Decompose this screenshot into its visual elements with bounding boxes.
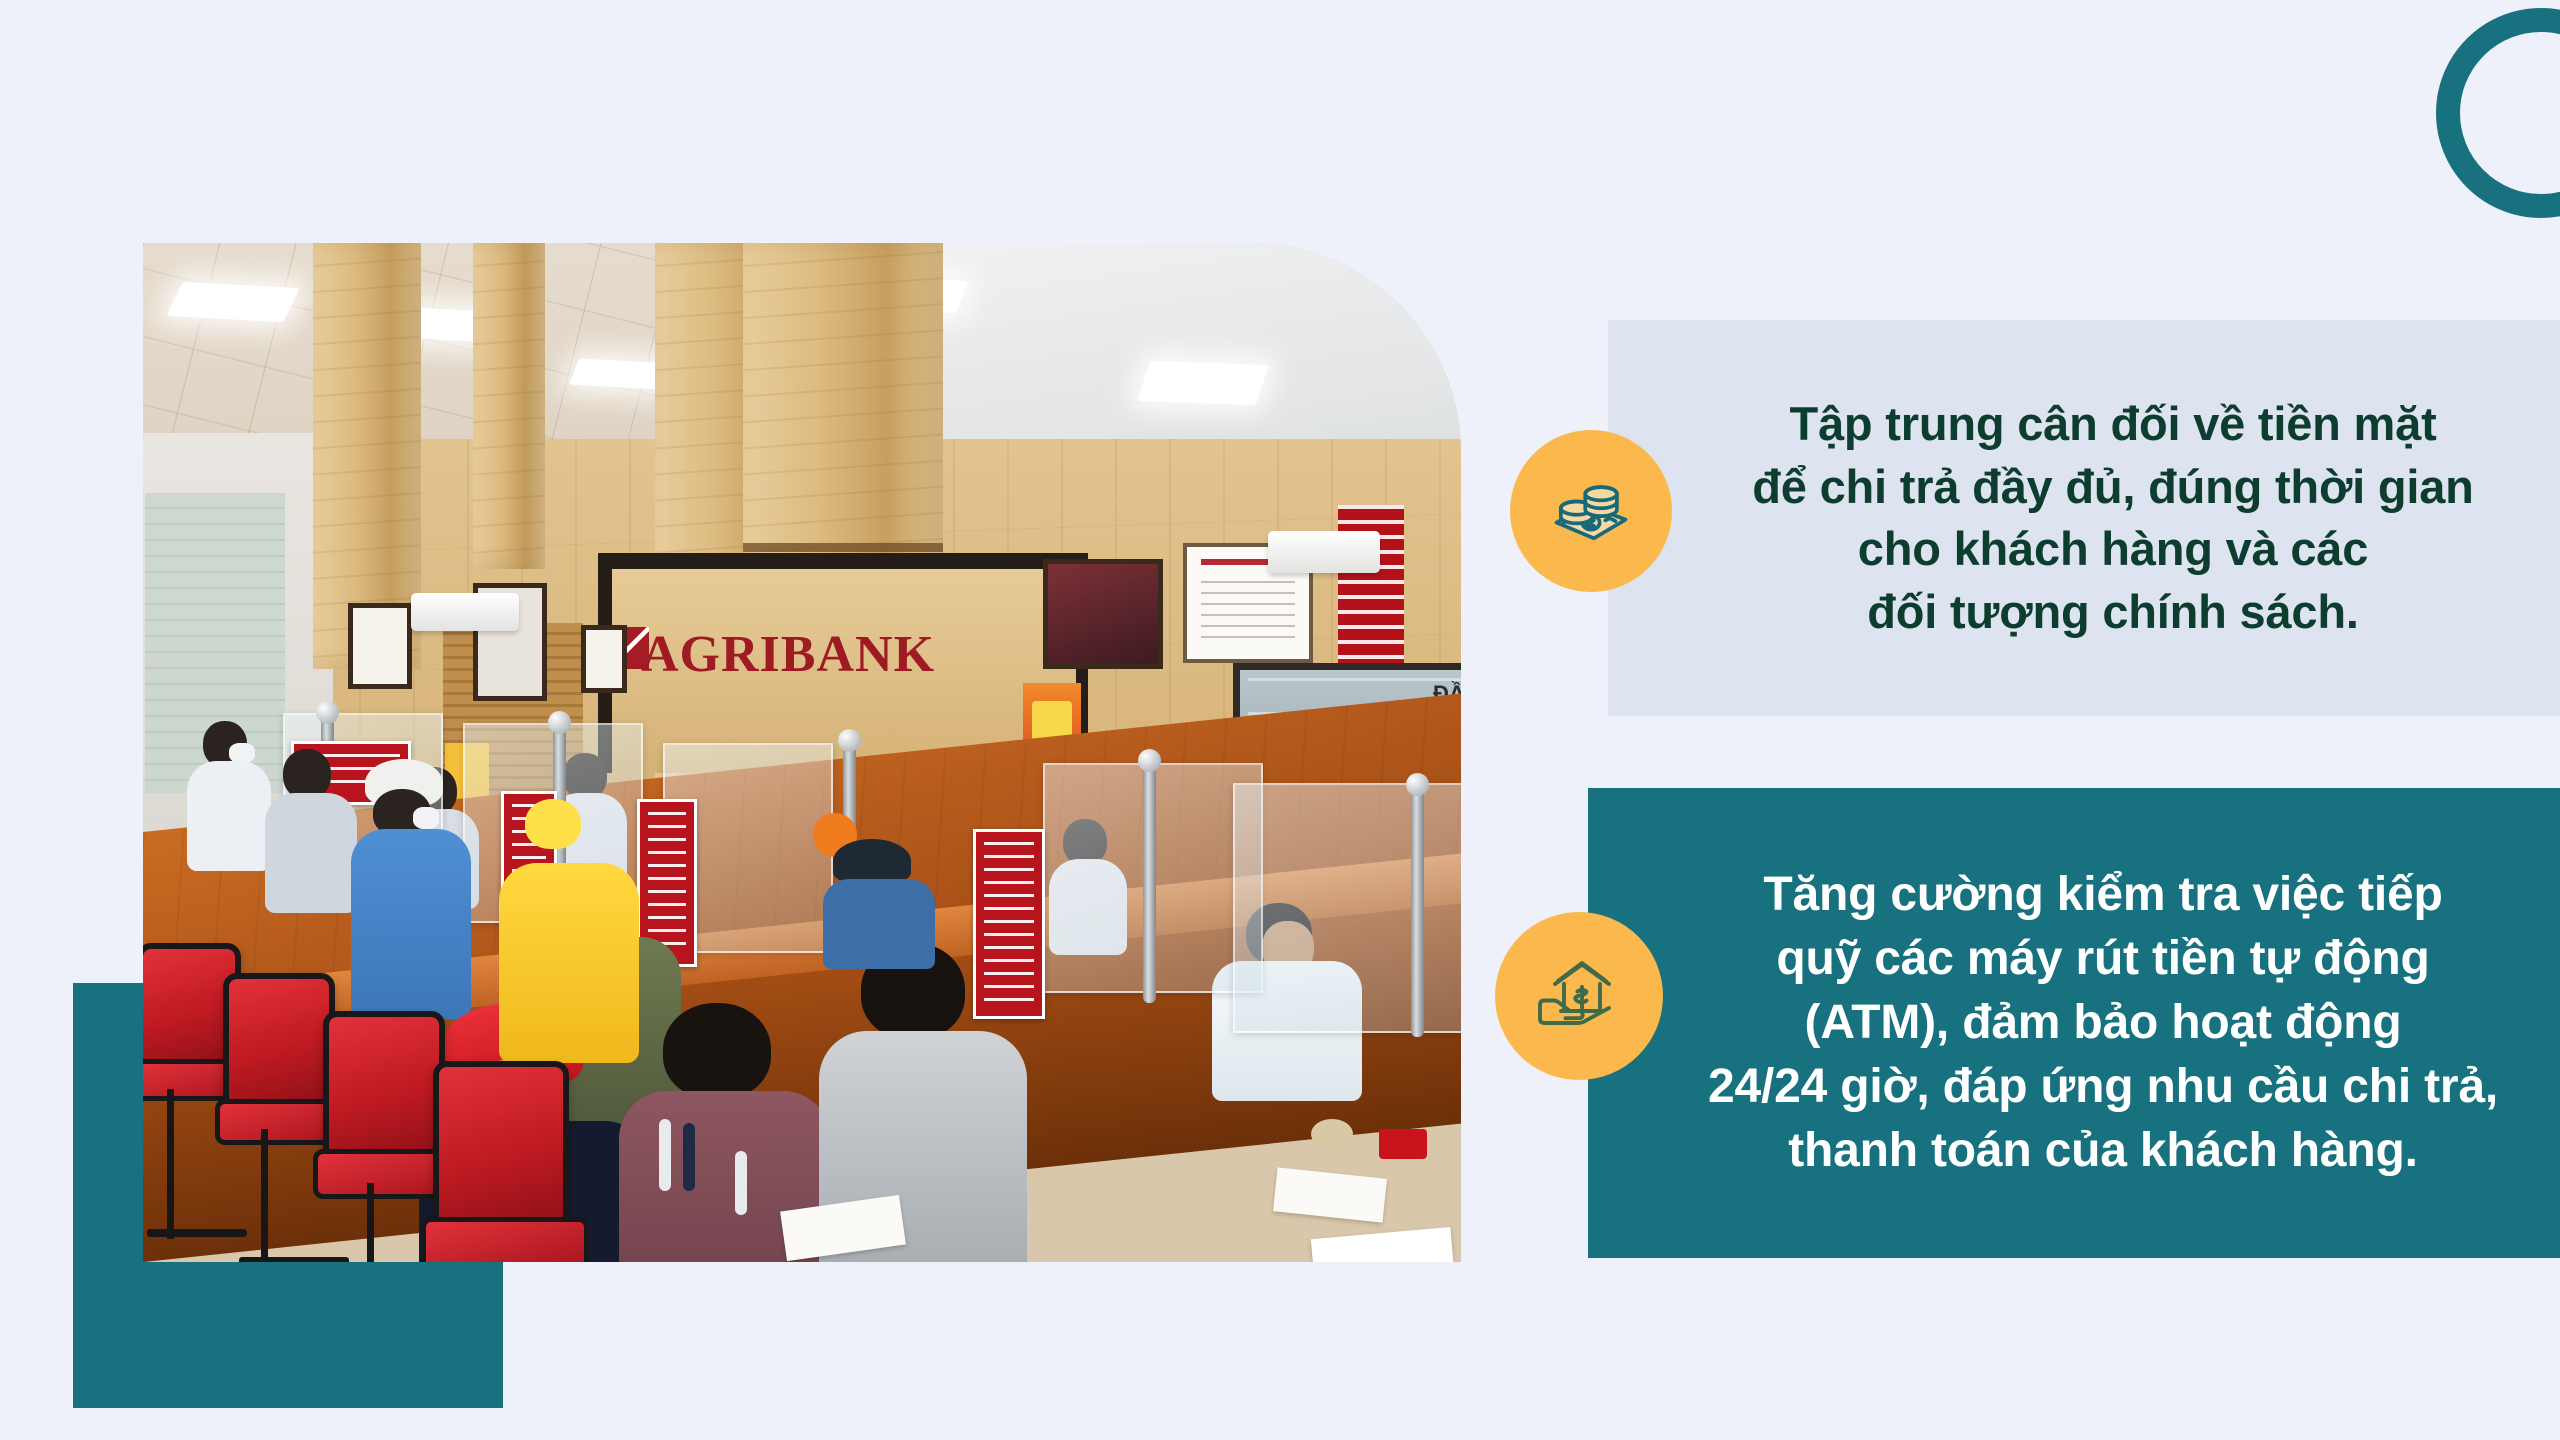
money-stack-icon-glyph	[1545, 465, 1637, 557]
point-2-text: Tăng cường kiểm tra việc tiếp quỹ các má…	[1588, 863, 2560, 1182]
point-1-panel: Tập trung cân đối về tiền mặt để chi trả…	[1608, 320, 2560, 716]
photo-scene: AGRIBANK 05/2023 ĐẦY	[143, 243, 1461, 1262]
wall-frame	[348, 603, 412, 689]
customer-shirt-blue	[351, 829, 471, 1019]
tape-roll	[1311, 1119, 1353, 1149]
air-conditioner	[1268, 531, 1380, 573]
counter-red-sign	[973, 829, 1045, 1019]
customer-hair	[663, 1003, 771, 1099]
teal-ring-decoration	[2436, 8, 2560, 218]
waiting-chair	[223, 973, 335, 1111]
chair-leg	[261, 1129, 268, 1262]
point-2-panel: Tăng cường kiểm tra việc tiếp quỹ các má…	[1588, 788, 2560, 1258]
paper-document	[1311, 1227, 1455, 1262]
column-seam	[743, 543, 943, 552]
chair-leg	[167, 1089, 174, 1239]
ceiling-light	[1137, 361, 1269, 405]
point-1-text: Tập trung cân đối về tiền mặt để chi trả…	[1608, 393, 2560, 643]
pen	[659, 1119, 671, 1191]
queue-post	[1411, 787, 1424, 1037]
stamp-pad	[1379, 1129, 1427, 1159]
waiting-chair	[433, 1061, 569, 1233]
face-mask	[413, 807, 439, 829]
customer-hair	[283, 749, 331, 799]
chair-foot-rail	[239, 1257, 349, 1262]
face-mask	[229, 743, 255, 763]
chair-seat	[421, 1217, 589, 1262]
hand-holding-bank-icon	[1495, 912, 1663, 1080]
hand-holding-bank-icon-glyph	[1531, 948, 1627, 1044]
queue-post	[1143, 763, 1156, 1003]
chair-foot-rail	[147, 1229, 247, 1237]
customer-yellow-shirt-head	[525, 799, 581, 849]
customer-shirt	[187, 761, 271, 871]
wood-column	[473, 243, 545, 569]
paper-document	[1273, 1167, 1387, 1222]
ceiling-light	[166, 282, 300, 322]
money-stack-icon	[1510, 430, 1672, 592]
bank-branch-photo: AGRIBANK 05/2023 ĐẦY	[143, 243, 1461, 1262]
dark-cap	[833, 839, 911, 883]
waiting-chair	[323, 1011, 445, 1163]
infographic-canvas: AGRIBANK 05/2023 ĐẦY	[0, 0, 2560, 1440]
customer-yellow-shirt	[499, 863, 639, 1063]
wall-photo-frame	[1043, 559, 1163, 669]
agribank-sign-text: AGRIBANK	[641, 629, 935, 681]
counter-glass-shield	[1233, 783, 1461, 1033]
wall-frame	[581, 625, 627, 693]
pen	[735, 1151, 747, 1215]
chair-leg	[367, 1183, 374, 1262]
customer-shirt	[823, 879, 935, 969]
air-conditioner	[411, 593, 519, 631]
customer-shirt	[265, 793, 357, 913]
pen	[683, 1123, 695, 1191]
